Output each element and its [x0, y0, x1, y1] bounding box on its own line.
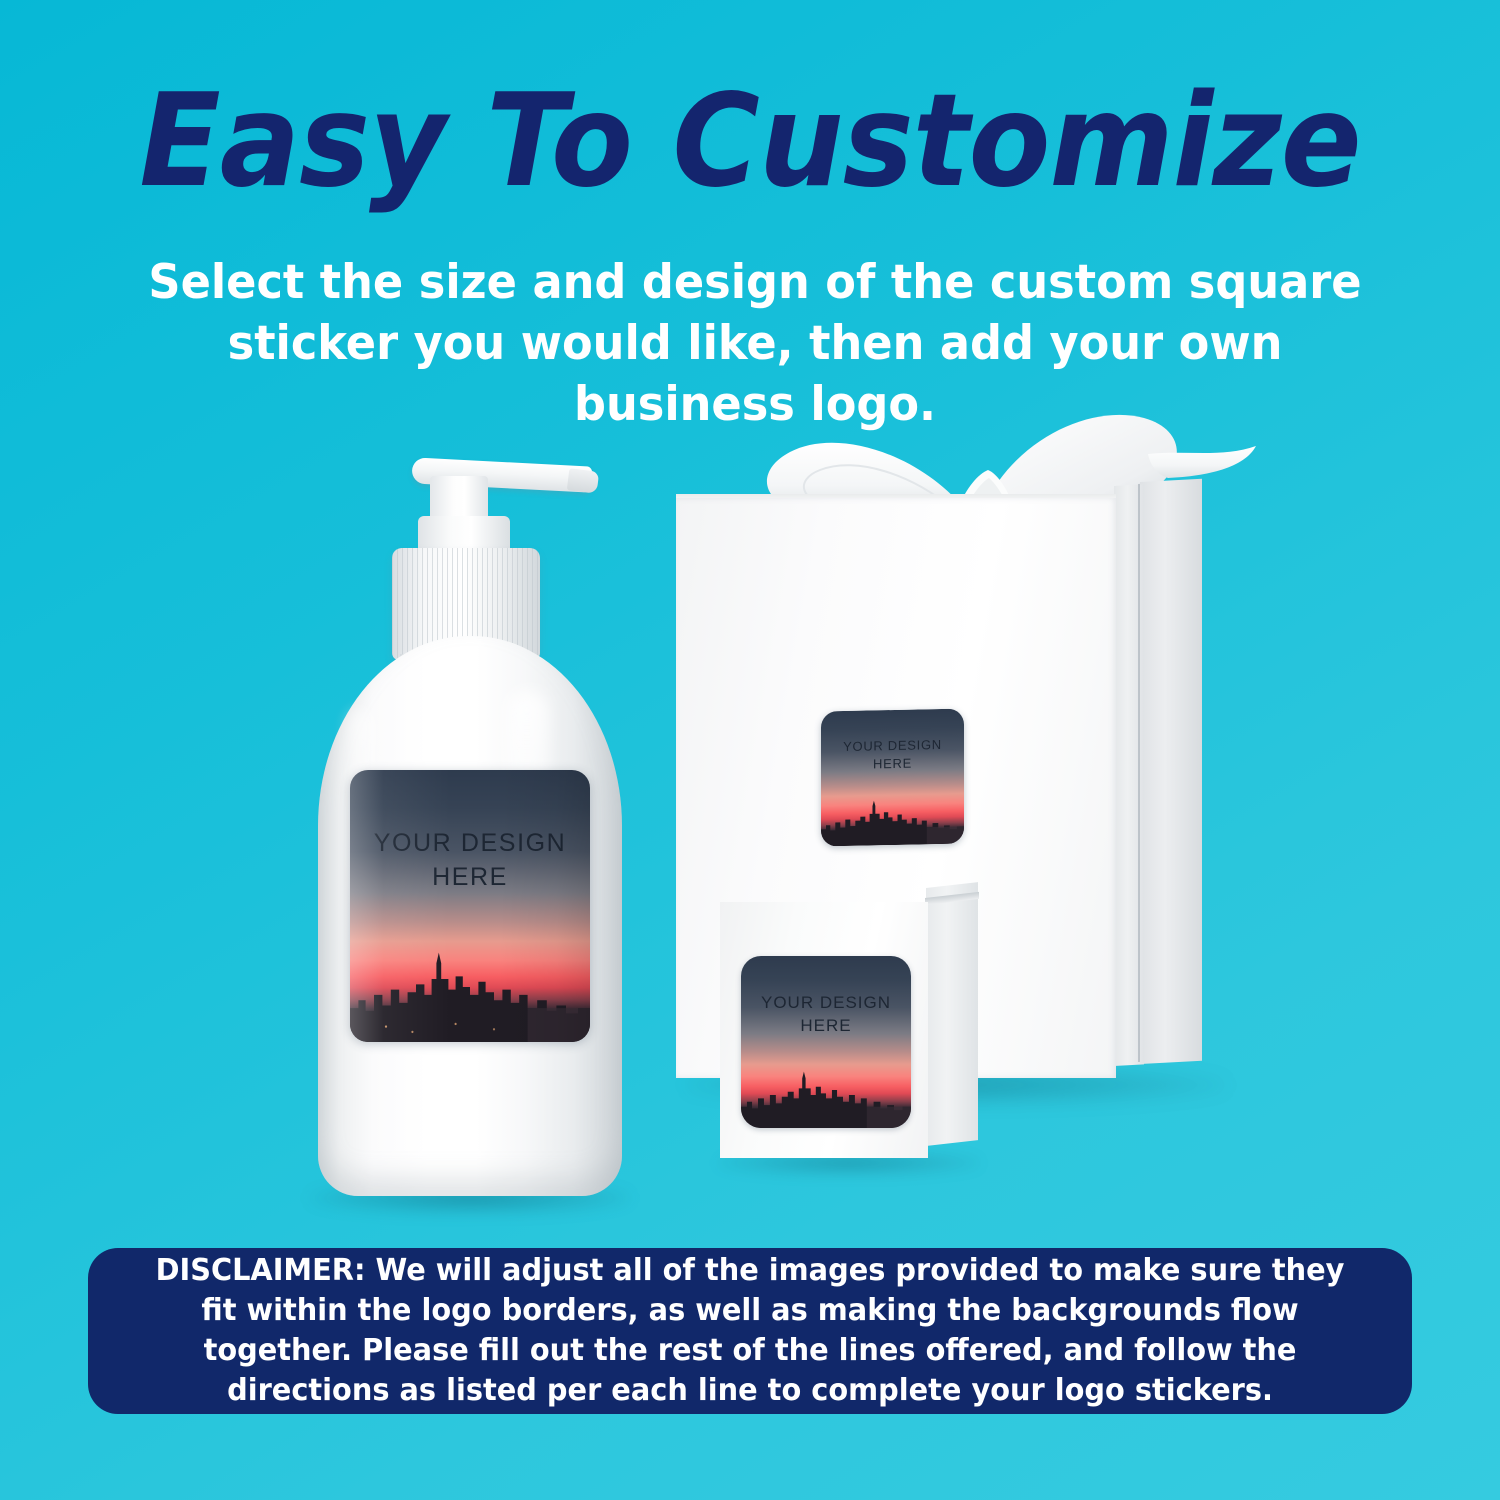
disclaimer-text: DISCLAIMER: We will adjust all of the im…	[139, 1251, 1360, 1411]
promo-image-canvas: Easy To Customize Select the size and de…	[0, 0, 1500, 1500]
small-box-side-panel	[926, 882, 978, 1146]
sticker-on-bottle[interactable]: YOUR DESIGN HERE	[350, 770, 590, 1042]
sticker-design-text: YOUR DESIGN HERE	[741, 992, 911, 1038]
disclaimer-label: DISCLAIMER:	[156, 1253, 366, 1288]
sticker-design-line2: HERE	[741, 1015, 911, 1038]
city-skyline-silhouette	[741, 1070, 911, 1128]
sticker-design-line1: YOUR DESIGN	[350, 827, 590, 861]
sticker-design-line1: YOUR DESIGN	[741, 992, 911, 1015]
disclaimer-panel: DISCLAIMER: We will adjust all of the im…	[88, 1248, 1412, 1414]
sticker-design-text: YOUR DESIGN HERE	[821, 736, 964, 774]
sticker-artwork: YOUR DESIGN HERE	[741, 956, 911, 1128]
pump-nozzle-tip	[567, 468, 599, 493]
pump-bottle-product: YOUR DESIGN HERE	[300, 440, 640, 1230]
gift-box-side-panel-back	[1140, 479, 1202, 1064]
city-skyline-silhouette	[821, 798, 964, 847]
sticker-design-line2: HERE	[350, 861, 590, 895]
sticker-on-gift-box[interactable]: YOUR DESIGN HERE	[821, 709, 964, 847]
sticker-design-line2: HERE	[821, 753, 964, 774]
sticker-design-text: YOUR DESIGN HERE	[350, 827, 590, 895]
city-skyline-silhouette	[350, 950, 590, 1042]
gift-box-lid-seam	[1138, 484, 1140, 1062]
small-box-product: YOUR DESIGN HERE	[700, 888, 1000, 1188]
sticker-artwork: YOUR DESIGN HERE	[350, 770, 590, 1042]
disclaimer-body: We will adjust all of the images provide…	[201, 1253, 1344, 1408]
sticker-artwork: YOUR DESIGN HERE	[821, 709, 964, 847]
sticker-on-small-box[interactable]: YOUR DESIGN HERE	[741, 956, 911, 1128]
